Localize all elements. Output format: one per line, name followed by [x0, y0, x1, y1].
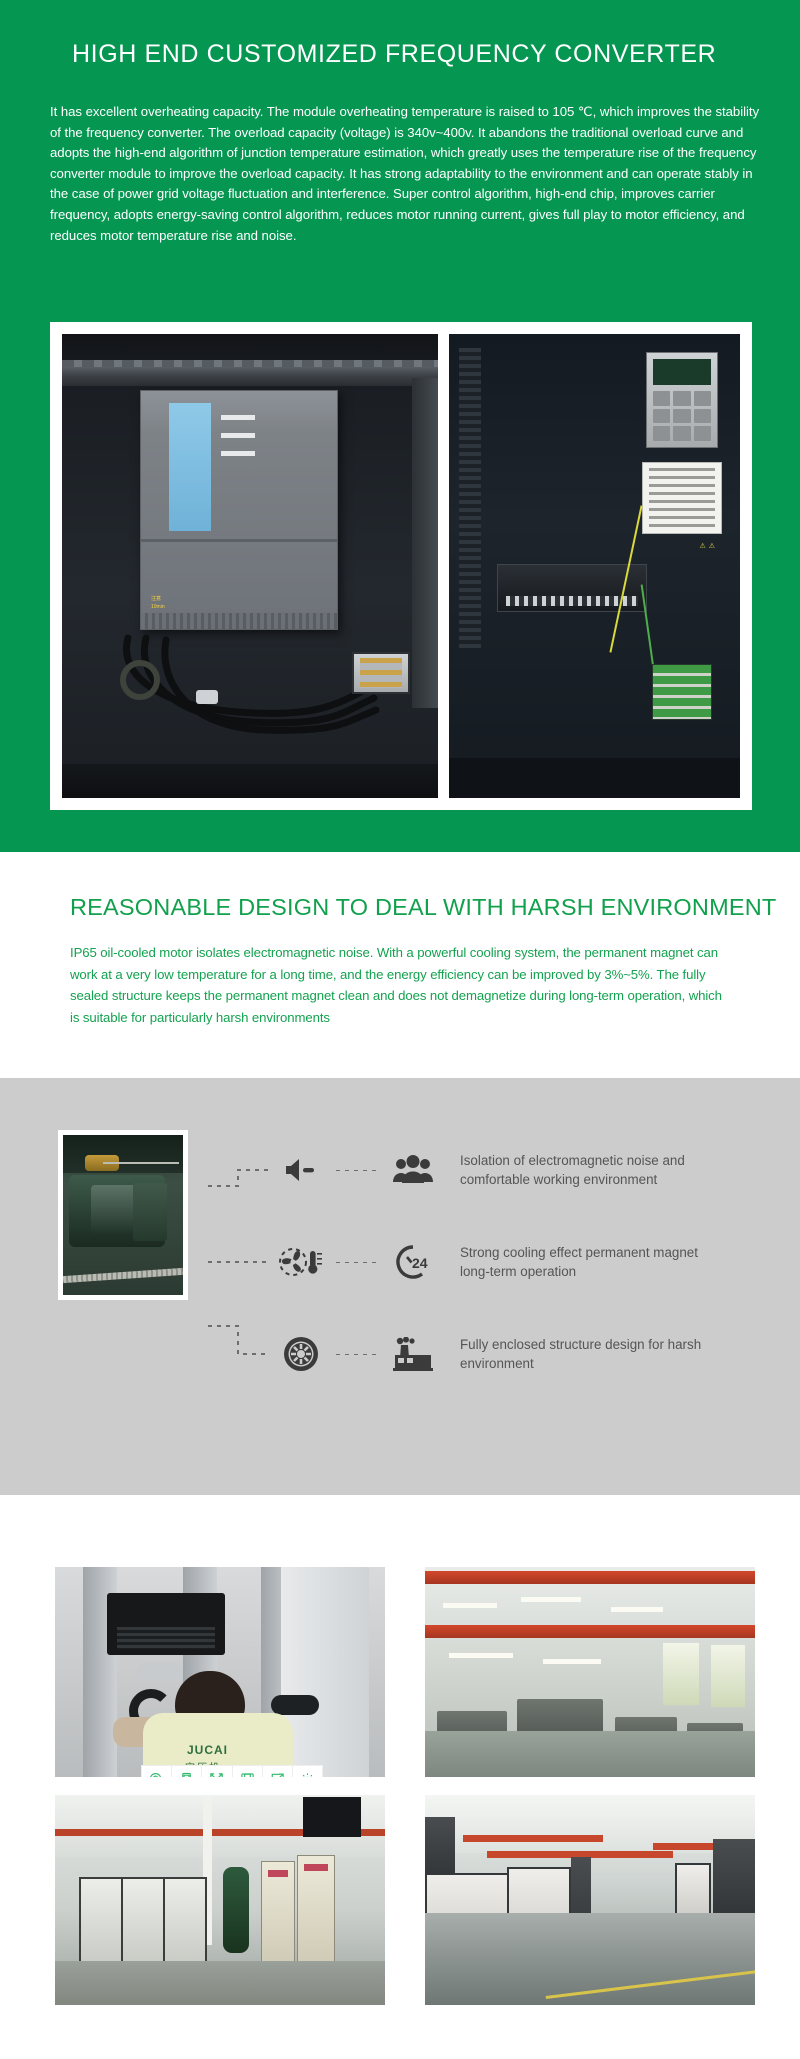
connector-line-1	[208, 1124, 268, 1216]
module-vent-grille	[141, 613, 337, 629]
cabinet-floor	[62, 764, 438, 798]
motor-rod	[103, 1162, 179, 1164]
section-body: IP65 oil-cooled motor isolates electroma…	[70, 942, 730, 1028]
image-toolbar[interactable]	[141, 1765, 323, 1777]
connector-line-3	[208, 1308, 268, 1400]
feature-row-3: Fully enclosed structure design for hars…	[270, 1308, 760, 1400]
mobile-icon[interactable]	[172, 1766, 202, 1777]
factory-photo-3[interactable]	[55, 1795, 385, 2005]
share-icon[interactable]	[263, 1766, 293, 1777]
silver-cylinder	[137, 1663, 183, 1681]
cabinet-b-base	[449, 758, 740, 798]
ceiling-lamp-2	[521, 1597, 581, 1602]
ceiling-lamp-5	[543, 1659, 601, 1664]
ceiling-lamp-4	[449, 1653, 513, 1658]
overhead-crane-beam-2	[425, 1625, 755, 1638]
connector-line-2	[208, 1216, 268, 1308]
floor-3	[55, 1961, 385, 2005]
fan-thermometer-icon	[270, 1247, 332, 1277]
factory-photo-grid: JUCAI 空压机	[0, 1495, 800, 2059]
dash-connector-2	[336, 1262, 378, 1263]
motor-photo-frame	[58, 1130, 188, 1300]
product-photo-module: 注意 10min	[62, 334, 438, 798]
expand-icon[interactable]	[202, 1766, 232, 1777]
feature-text-2: Strong cooling effect permanent magnet l…	[460, 1243, 710, 1282]
green-tank	[223, 1867, 249, 1953]
module-warning-label: 注意 10min	[151, 595, 165, 611]
ceiling-lamp-1	[443, 1603, 497, 1608]
factory-icon	[382, 1337, 444, 1371]
features-grey-section: Isolation of electromagnetic noise and c…	[0, 1078, 800, 1495]
feature-list: Isolation of electromagnetic noise and c…	[270, 1124, 760, 1400]
factory-photo-1[interactable]: JUCAI 空压机	[55, 1567, 385, 1777]
window-1	[663, 1643, 699, 1705]
warning-text-1: 注意	[151, 596, 161, 602]
module-led-2	[221, 433, 255, 438]
feature-text-1: Isolation of electromagnetic noise and c…	[460, 1151, 710, 1190]
warehouse-aisle-scene	[425, 1795, 755, 2005]
cabinet-b-vent	[459, 348, 481, 648]
module-blue-stripe	[169, 403, 211, 531]
intro-paragraph: It has excellent overheating capacity. T…	[50, 102, 762, 246]
design-white-section: REASONABLE DESIGN TO DEAL WITH HARSH ENV…	[0, 852, 800, 1078]
cabinet-1	[79, 1877, 123, 1965]
feature-row-2: 24 Strong cooling effect permanent magne…	[270, 1216, 760, 1308]
control-cabinet-scene	[55, 1795, 385, 2005]
frequency-converter-module: 注意 10min	[140, 390, 338, 630]
control-panel-2	[297, 1855, 335, 1967]
warning-text-2: 10min	[151, 604, 165, 610]
cabinet-top-lip	[62, 360, 438, 386]
window-2	[711, 1645, 745, 1707]
wall-monitor	[303, 1797, 361, 1837]
settings-icon[interactable]	[293, 1766, 322, 1777]
feature-text-3: Fully enclosed structure design for hars…	[460, 1335, 710, 1374]
clock-24h-icon: 24	[382, 1245, 444, 1279]
dash-connector-1	[336, 1170, 378, 1171]
feature-row-1: Isolation of electromagnetic noise and c…	[270, 1124, 760, 1216]
tire-wheel-icon	[270, 1336, 332, 1372]
motor-photo	[63, 1135, 183, 1295]
warning-triangles: ⚠⚠	[699, 542, 718, 550]
svg-text:24: 24	[412, 1255, 428, 1271]
product-photo-pair: 注意 10min	[50, 322, 752, 810]
cable-bundle	[88, 634, 388, 744]
dark-roller	[271, 1695, 319, 1715]
zoom-icon[interactable]	[142, 1766, 172, 1777]
cabinet-door	[281, 1567, 369, 1777]
save-icon[interactable]	[233, 1766, 263, 1777]
dash-connector-3	[336, 1354, 378, 1355]
control-panel-1	[261, 1861, 295, 1967]
keypad-display	[653, 359, 711, 385]
people-group-icon	[382, 1155, 444, 1185]
factory-photo-2[interactable]	[425, 1567, 755, 1777]
motor-flange	[133, 1183, 167, 1241]
module-led-3	[221, 451, 255, 456]
compressor-block	[107, 1593, 225, 1655]
product-photo-cabinet: ⚠⚠	[449, 334, 740, 798]
factory-photo-4[interactable]	[425, 1795, 755, 2005]
brand-text: JUCAI	[187, 1743, 228, 1757]
section-heading: REASONABLE DESIGN TO DEAL WITH HARSH ENV…	[70, 894, 770, 921]
keypad-buttons	[653, 391, 711, 441]
keypad-panel	[646, 352, 718, 448]
overhead-crane-beam-1	[425, 1571, 755, 1584]
motor-drive-belt	[63, 1268, 183, 1283]
terminal-block	[352, 652, 410, 694]
speaker-mute-icon	[270, 1157, 332, 1183]
ceiling-lamp-3	[611, 1607, 663, 1612]
spec-sticker	[642, 462, 722, 534]
page-title: HIGH END CUSTOMIZED FREQUENCY CONVERTER	[72, 40, 732, 69]
cabinet-right-rail	[412, 378, 438, 708]
intro-green-section: HIGH END CUSTOMIZED FREQUENCY CONVERTER …	[0, 0, 800, 852]
module-divider	[141, 539, 337, 542]
workshop-floor	[425, 1731, 755, 1777]
motor-background-dark	[63, 1135, 183, 1173]
cabinet-3	[163, 1877, 207, 1965]
module-led-1	[221, 415, 255, 420]
compressor-service-scene: JUCAI 空压机	[55, 1567, 385, 1777]
workshop-crane-scene	[425, 1567, 755, 1777]
cabinet-2	[121, 1877, 165, 1965]
red-beam-a	[463, 1835, 603, 1842]
terminal-strip	[652, 664, 712, 720]
